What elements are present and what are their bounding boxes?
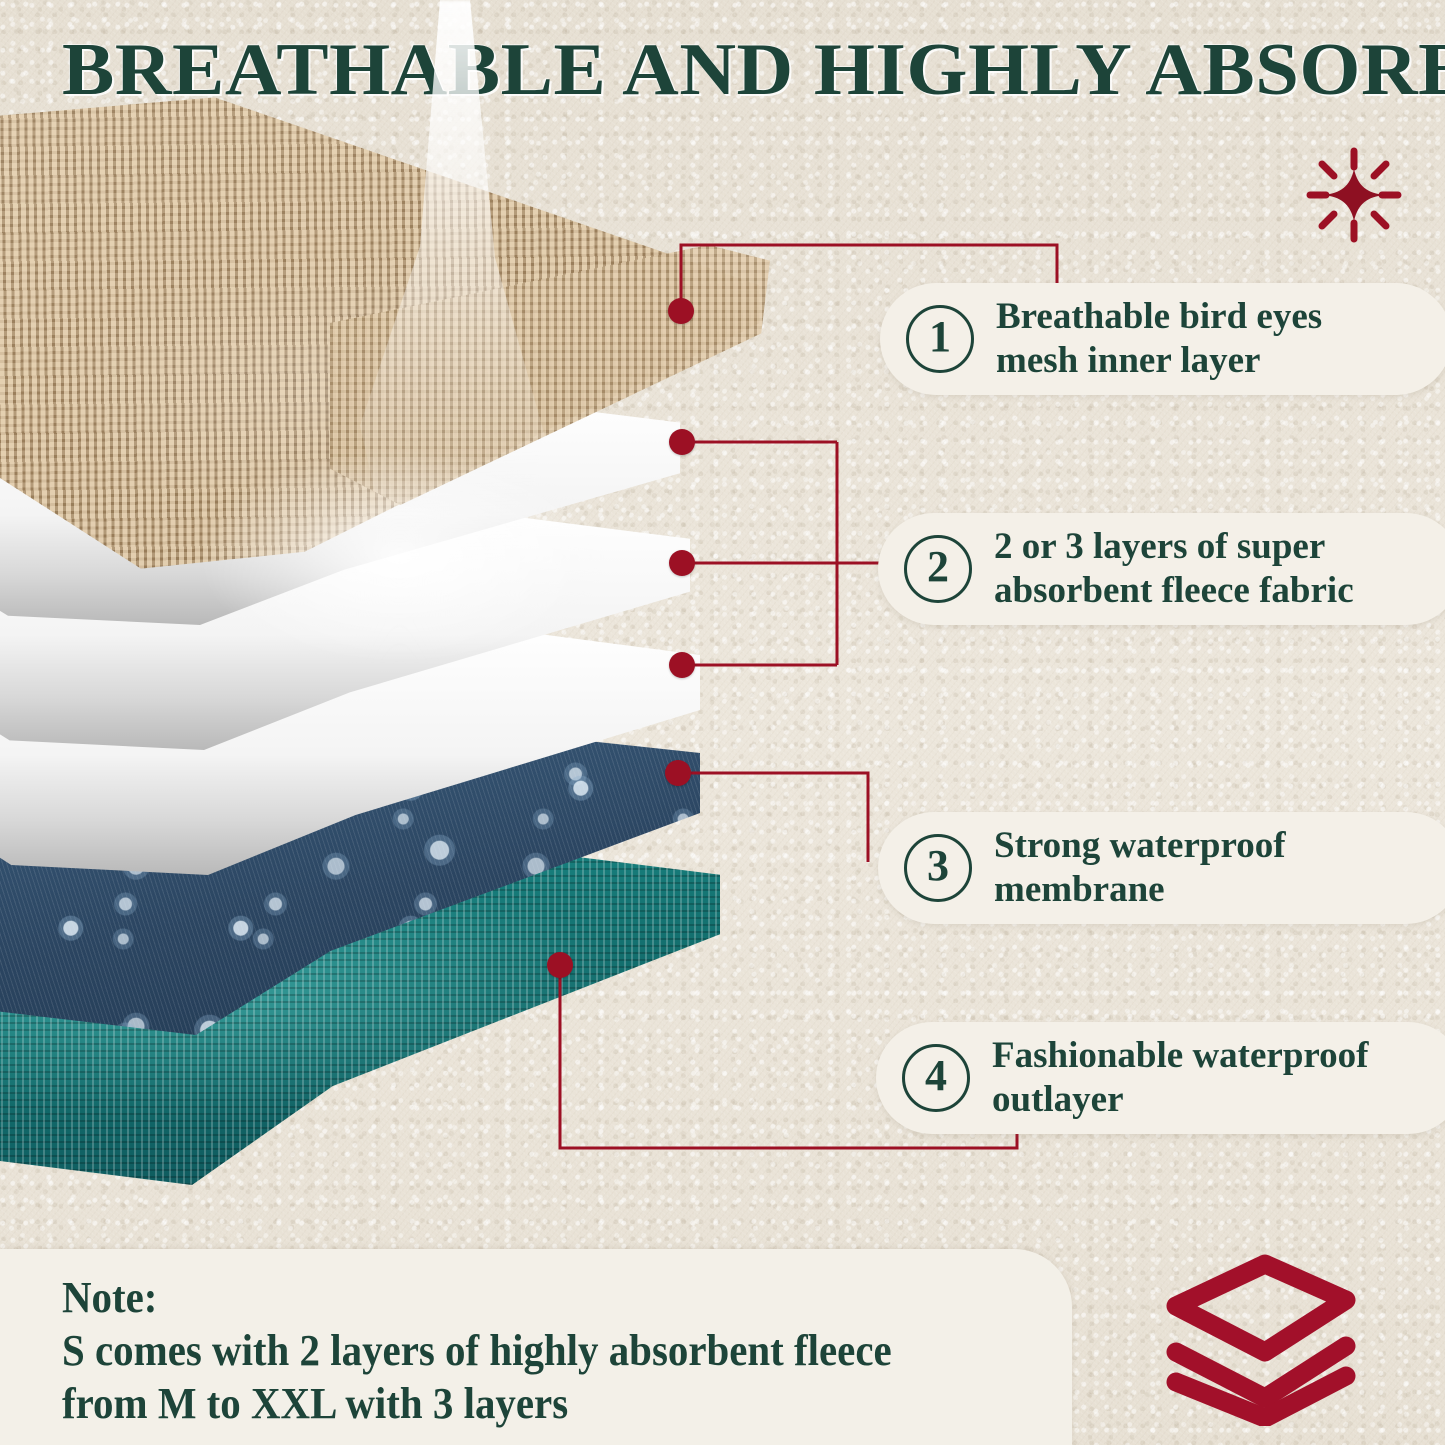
note-panel: Note: S comes with 2 layers of highly ab… [0, 1249, 1072, 1445]
connector-dot-2b [669, 550, 695, 576]
sparkle-icon [1298, 145, 1410, 245]
infographic-page: BREATHABLE AND HIGHLY ABSORBENT [0, 0, 1445, 1445]
callout-1-label: Breathable bird eyes mesh inner layer [996, 295, 1322, 383]
callout-3-number: 3 [904, 834, 972, 902]
note-text: Note: S comes with 2 layers of highly ab… [62, 1271, 892, 1430]
callout-4-number: 4 [902, 1044, 970, 1112]
connector-dot-4 [547, 952, 573, 978]
connector-dot-2c [669, 652, 695, 678]
connector-dot-3 [665, 760, 691, 786]
connector-dot-2a [669, 429, 695, 455]
callout-3-label: Strong waterproof membrane [994, 824, 1286, 912]
callout-1: 1 Breathable bird eyes mesh inner layer [880, 283, 1445, 395]
callout-4: 4 Fashionable waterproof outlayer [876, 1022, 1445, 1134]
layers-stack-icon [1158, 1248, 1373, 1426]
connector-dot-1 [668, 298, 694, 324]
water-splash-spray [150, 425, 670, 755]
callout-3: 3 Strong waterproof membrane [878, 812, 1445, 924]
callout-1-number: 1 [906, 305, 974, 373]
callout-2: 2 2 or 3 layers of super absorbent fleec… [878, 513, 1445, 625]
callout-4-label: Fashionable waterproof outlayer [992, 1034, 1369, 1122]
fabric-layer-illustration [0, 95, 790, 1095]
callout-2-number: 2 [904, 535, 972, 603]
callout-2-label: 2 or 3 layers of super absorbent fleece … [994, 525, 1354, 613]
